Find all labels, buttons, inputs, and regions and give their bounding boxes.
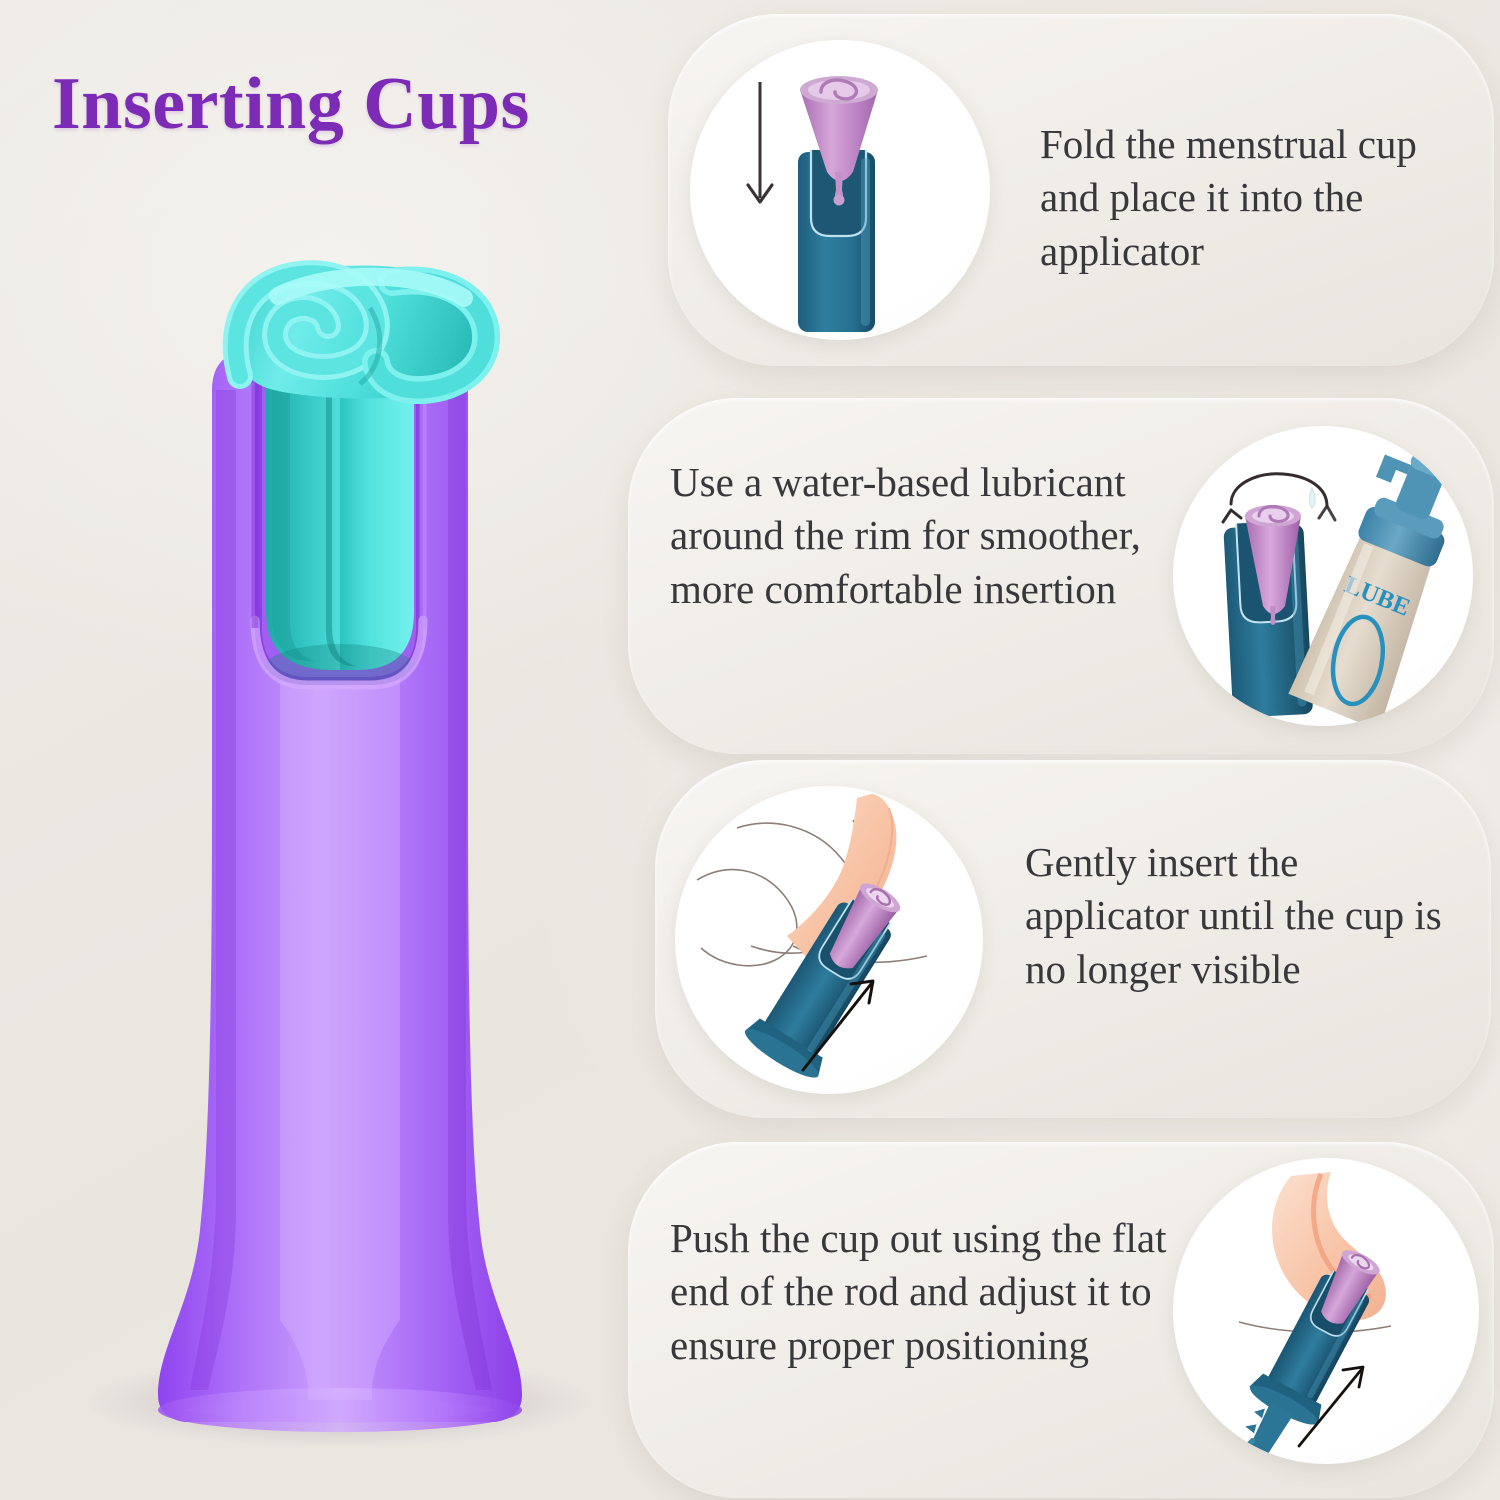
- step-2-text: Use a water-based lubricant around the r…: [670, 456, 1170, 616]
- page-title: Inserting Cups: [52, 62, 530, 147]
- step-1-illustration: [690, 40, 990, 340]
- step-3-text: Gently insert the applicator until the c…: [1025, 836, 1455, 996]
- step-2-illustration: LUBE: [1173, 426, 1473, 726]
- step-card-1: Fold the menstrual cup and place it into…: [668, 14, 1494, 366]
- step-card-2: Use a water-based lubricant around the r…: [628, 398, 1494, 754]
- step-4-text: Push the cup out using the flat end of t…: [670, 1212, 1170, 1372]
- step-card-3: Gently insert the applicator until the c…: [655, 760, 1491, 1118]
- hero-product-image: [40, 230, 640, 1480]
- step-3-illustration: [675, 786, 983, 1094]
- folded-cup-top: [236, 266, 488, 399]
- step-1-text: Fold the menstrual cup and place it into…: [1040, 118, 1460, 278]
- step-card-4: Push the cup out using the flat end of t…: [628, 1142, 1494, 1498]
- applicator-with-cup-illustration: [40, 230, 640, 1480]
- step-4-illustration: [1173, 1158, 1479, 1464]
